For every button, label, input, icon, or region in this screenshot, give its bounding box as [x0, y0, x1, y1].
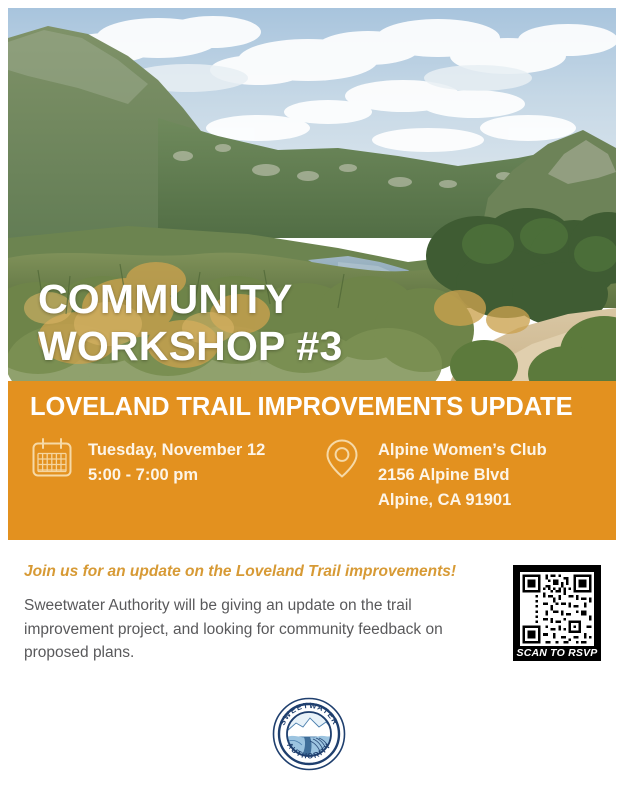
paragraph-line-3: proposed plans.	[24, 641, 494, 665]
time-line: 5:00 - 7:00 pm	[88, 463, 265, 488]
band-info-row: Tuesday, November 12 5:00 - 7:00 pm Alpi…	[8, 436, 616, 536]
city-state-zip: Alpine, CA 91901	[378, 488, 547, 513]
location-block: Alpine Women’s Club 2156 Alpine Blvd Alp…	[320, 436, 547, 513]
description-paragraph: Sweetwater Authority will be giving an u…	[24, 594, 494, 665]
orange-info-band: LOVELAND TRAIL IMPROVEMENTS UPDATE	[8, 381, 616, 540]
map-pin-icon	[320, 436, 364, 480]
date-time-text: Tuesday, November 12 5:00 - 7:00 pm	[88, 436, 265, 488]
venue-name: Alpine Women’s Club	[378, 438, 547, 463]
qr-caption: SCAN TO RSVP	[513, 647, 601, 659]
rsvp-qr-block[interactable]: SCAN TO RSVP	[513, 565, 601, 661]
hero-photo: COMMUNITY WORKSHOP #3	[8, 8, 616, 382]
date-line: Tuesday, November 12	[88, 438, 265, 463]
body-copy: Join us for an update on the Loveland Tr…	[24, 561, 494, 665]
flyer-page: COMMUNITY WORKSHOP #3 LOVELAND TRAIL IMP…	[0, 0, 624, 810]
band-headline: LOVELAND TRAIL IMPROVEMENTS UPDATE	[30, 393, 573, 422]
street-address: 2156 Alpine Blvd	[378, 463, 547, 488]
sweetwater-authority-logo: SWEETWATER AUTHORITY	[272, 697, 346, 771]
qr-code-icon[interactable]	[520, 572, 594, 646]
date-time-block: Tuesday, November 12 5:00 - 7:00 pm	[30, 436, 265, 488]
lede-text: Join us for an update on the Loveland Tr…	[24, 561, 494, 583]
paragraph-line-2: improvement project, and looking for com…	[24, 618, 494, 642]
location-text: Alpine Women’s Club 2156 Alpine Blvd Alp…	[378, 436, 547, 513]
landscape-illustration	[8, 8, 616, 382]
calendar-icon	[30, 436, 74, 480]
paragraph-line-1: Sweetwater Authority will be giving an u…	[24, 594, 494, 618]
